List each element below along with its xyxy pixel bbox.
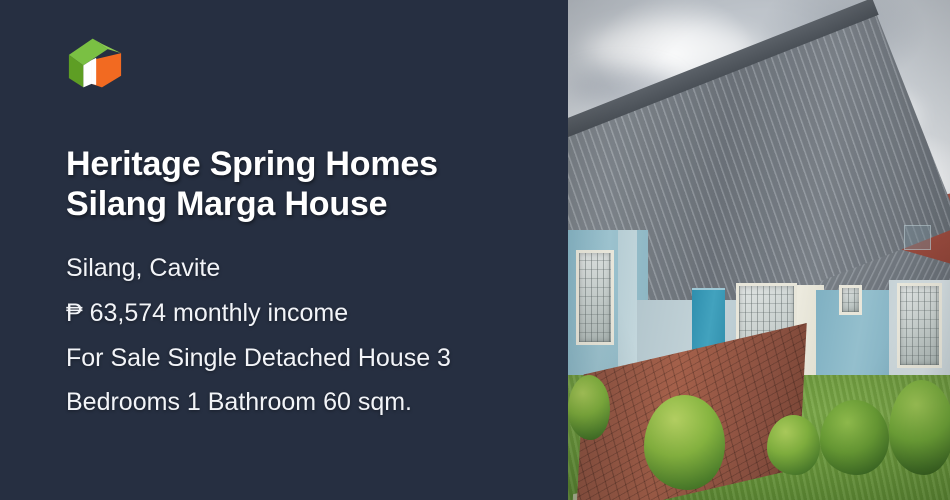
house-logo-icon xyxy=(66,34,124,92)
listing-description: For Sale Single Detached House 3 Bedroom… xyxy=(66,336,528,424)
brand-logo[interactable] xyxy=(66,34,124,92)
photo-vignette xyxy=(568,0,950,500)
property-photo xyxy=(568,0,950,500)
page-title: Heritage Spring Homes Silang Marga House xyxy=(66,144,528,224)
property-listing-card: Heritage Spring Homes Silang Marga House… xyxy=(0,0,950,500)
listing-location: Silang, Cavite xyxy=(66,246,528,291)
info-panel: Heritage Spring Homes Silang Marga House… xyxy=(0,0,568,500)
listing-income: ₱ 63,574 monthly income xyxy=(66,291,528,336)
photo-canvas xyxy=(568,0,950,500)
listing-details: Silang, Cavite ₱ 63,574 monthly income F… xyxy=(66,246,528,424)
